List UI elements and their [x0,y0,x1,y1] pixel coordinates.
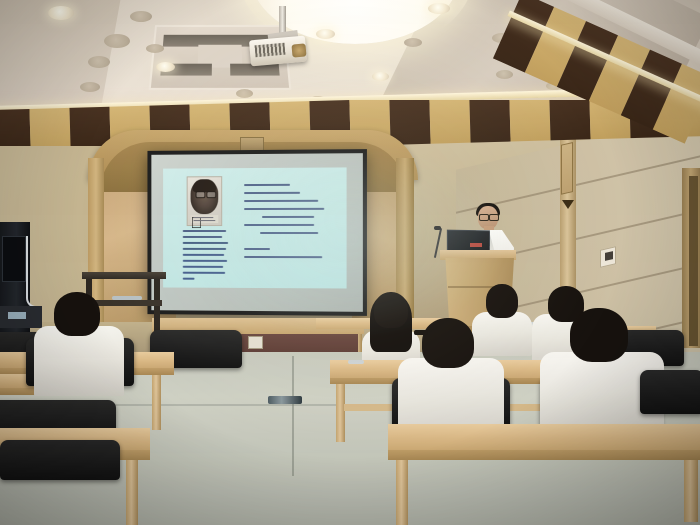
downlight [316,29,335,39]
floor-seam [292,356,294,476]
microphone-head [434,226,441,230]
downlight [88,56,110,68]
floor-outlet-plate[interactable] [248,336,263,349]
presenter-glasses-left [479,214,489,221]
side-table-object [112,296,142,300]
chair[interactable] [0,440,120,480]
laptop-screen-content [470,243,482,247]
chair[interactable] [640,370,700,414]
downlight [236,89,253,98]
rack-label [8,312,26,319]
floor-cable-cover [268,396,302,404]
checker-tile [429,100,470,144]
text-line [183,272,225,274]
downlight [372,72,389,81]
pilaster-inset-panel [561,142,573,195]
checker-tile [509,100,550,142]
audience-member-body [472,312,532,356]
desk-item [348,360,364,364]
desk-leg [336,382,345,442]
checker-tile [29,108,70,146]
downlight [48,6,74,20]
text-line [262,216,314,218]
audience-member-head [486,284,518,318]
downlight [104,34,130,48]
side-table-leg [154,278,160,338]
downlight [156,62,175,72]
text-line [183,278,195,280]
checker-tile [469,100,510,143]
downlight [80,82,100,92]
downlight [496,70,513,79]
audience-member-head [54,292,100,336]
caption-line [194,217,214,218]
text-line [183,266,223,268]
door-gap [689,176,698,346]
caption-line [194,220,216,221]
lecture-hall-photo: 􀀀 [0,0,700,525]
text-line [244,200,318,202]
desk-top [388,424,700,450]
downlight [146,44,164,53]
text-line [244,208,324,210]
audience-member-head [570,308,628,362]
projection-screen-surface: 􀀀 [151,153,363,312]
desk-leg [396,456,408,525]
checker-tile [549,100,590,140]
text-line [183,248,226,250]
side-table [82,272,166,279]
text-line [244,192,300,194]
portrait-glasses-left [196,191,206,198]
audience-member-head [422,318,474,368]
text-line [244,256,322,258]
desk-leg [684,456,698,522]
text-line [244,184,290,186]
projection-screen-frame: 􀀀 [147,149,366,316]
text-line [183,236,222,238]
desk-leg [152,372,161,430]
desk-leg [126,456,138,525]
downlight [428,3,450,14]
text-line [244,248,270,250]
presenter-glasses-right [489,214,499,221]
audience-member-body [34,326,124,396]
portrait-glasses-right [206,191,216,198]
presentation-slide: 􀀀 [163,167,346,288]
slide-portrait-photo: 􀀀 [187,176,223,226]
checker-tile [69,107,110,146]
portrait-caption: 􀀀 [191,215,219,223]
pilaster-triangle-ornament [562,200,574,209]
downlight [130,11,152,22]
text-line [183,260,227,262]
text-line [183,230,226,231]
text-line [183,242,228,244]
downlight [404,38,422,47]
projector-lens [291,43,306,57]
text-line [260,232,318,234]
rack-panel [2,236,26,282]
rack-cable [26,236,40,308]
audience-member-head [374,292,408,328]
checker-tile [0,109,31,146]
text-line [183,254,224,256]
text-line [244,224,314,226]
audience-member-glasses [414,330,428,335]
